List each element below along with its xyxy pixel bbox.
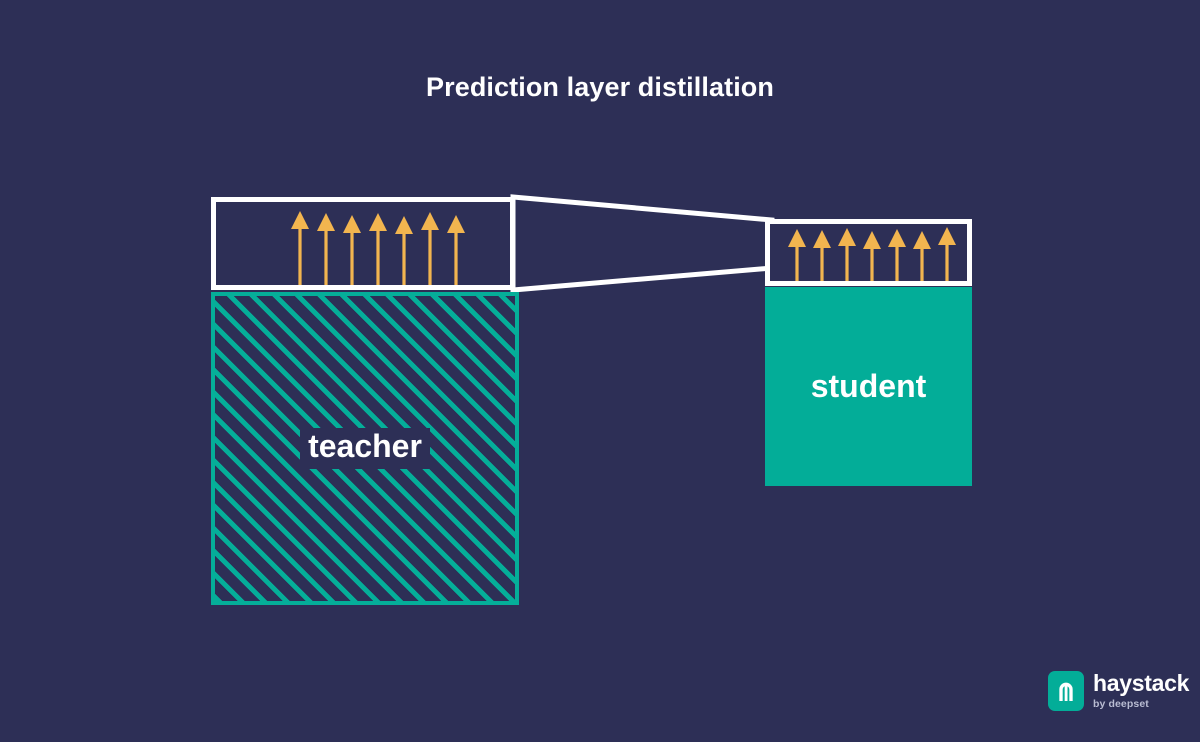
student-label: student [811,370,927,404]
teacher-body: teacher [211,292,519,605]
teacher-label: teacher [300,428,430,469]
logo-wordmark: haystack [1093,672,1189,695]
up-arrow-icon [395,216,413,285]
diagram-canvas: Prediction layer distillation [0,0,1200,742]
up-arrow-icon [788,229,806,281]
funnel-outline [513,197,772,290]
up-arrow-icon [447,215,465,285]
up-arrow-icon [888,229,906,281]
teacher-arrow-group [216,202,510,285]
student-arrow-group [770,224,967,281]
logo-text-block: haystack by deepset [1093,672,1189,710]
student-prediction-layer-box [765,219,972,286]
up-arrow-icon [291,211,309,285]
logo-tagline: by deepset [1093,699,1189,710]
up-arrow-icon [369,213,387,285]
arch-glyph [1056,680,1076,702]
distillation-funnel [505,186,780,301]
page-title: Prediction layer distillation [0,72,1200,103]
haystack-arch-icon [1048,671,1084,711]
up-arrow-icon [343,215,361,285]
up-arrow-icon [938,227,956,281]
up-arrow-icon [813,230,831,281]
up-arrow-icon [838,228,856,281]
up-arrow-icon [913,231,931,281]
up-arrow-icon [421,212,439,285]
teacher-label-wrapper: teacher [215,296,515,601]
student-body: student [765,287,972,486]
haystack-logo: haystack by deepset [1048,671,1189,711]
up-arrow-icon [863,231,881,281]
teacher-prediction-layer-box [211,197,515,290]
up-arrow-icon [317,213,335,285]
